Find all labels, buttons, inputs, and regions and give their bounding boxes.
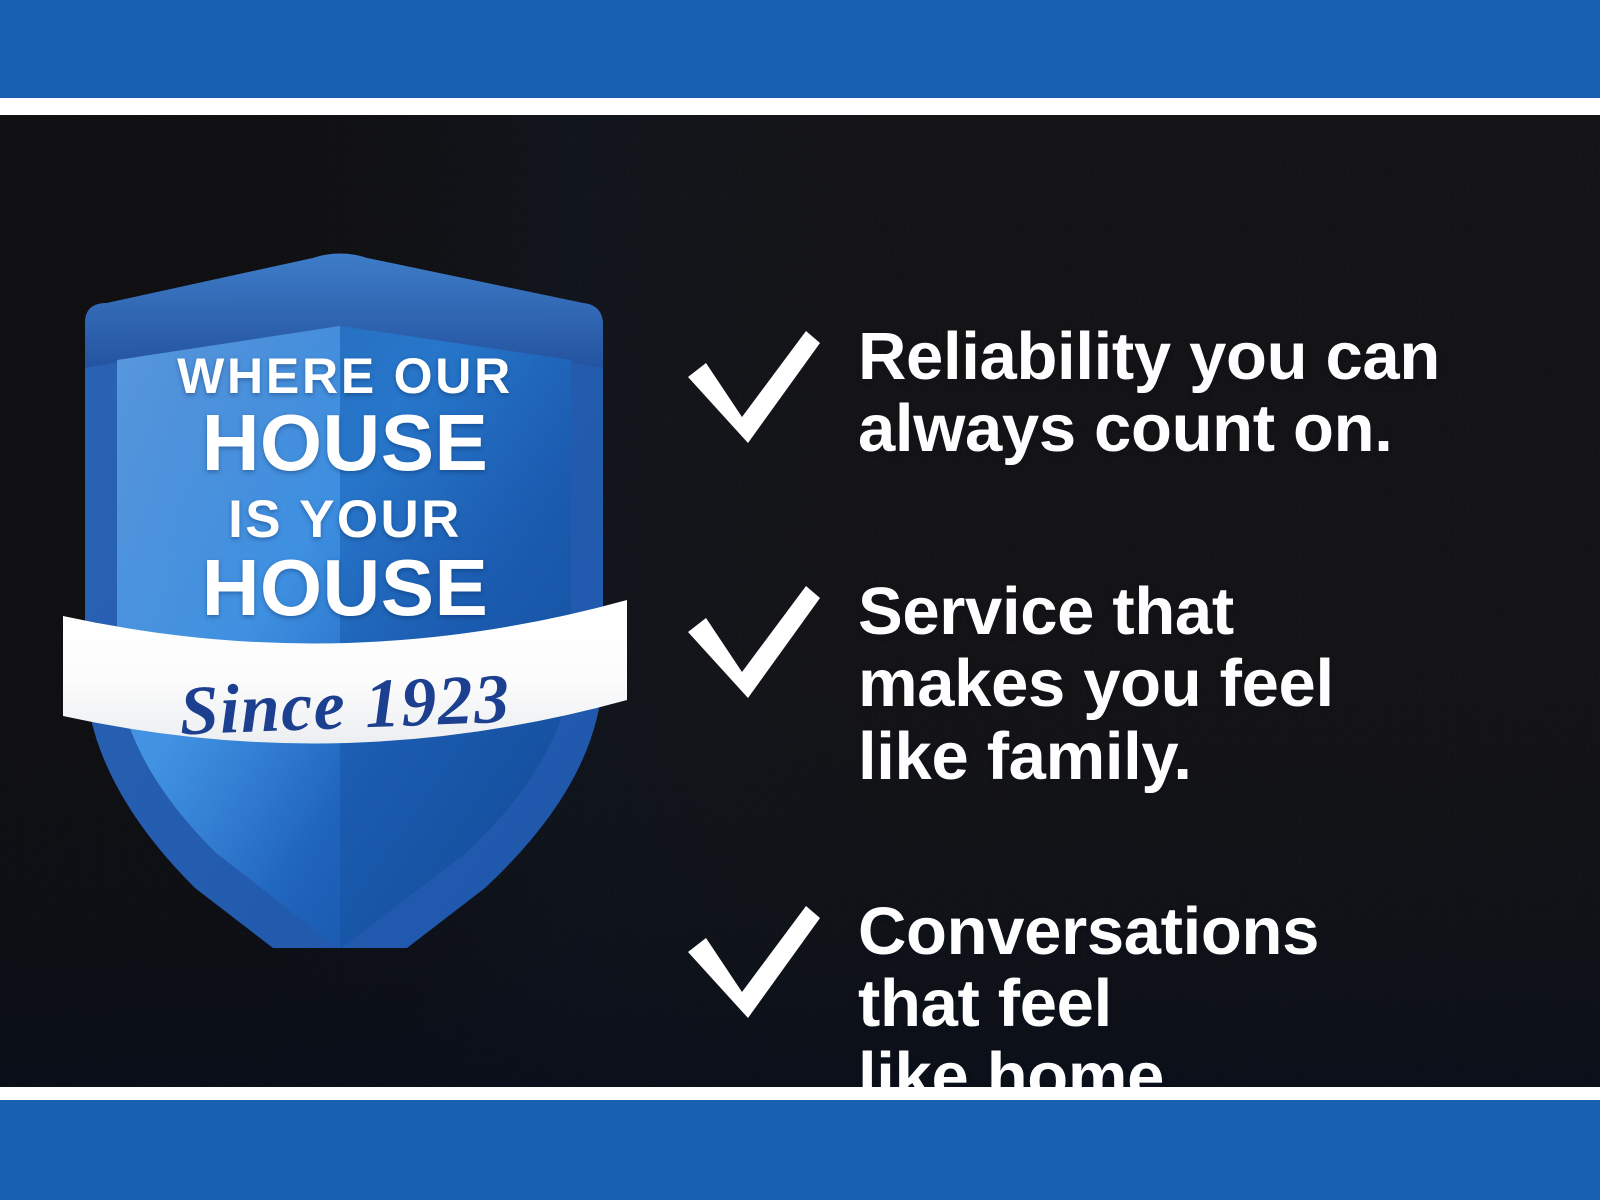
benefit-text-1: Reliability you can always count on. — [858, 321, 1558, 466]
benefits-list: Reliability you can always count on. Ser… — [660, 230, 1560, 1087]
benefit-2-line-1: Service that — [858, 576, 1558, 648]
checkmark-icon — [680, 325, 820, 450]
badge-line-3: IS YOUR — [55, 493, 635, 546]
promotional-banner: WHERE OUR HOUSE IS YOUR HOUSE Since 1923… — [0, 0, 1600, 1200]
benefit-text-2: Service that makes you feel like family. — [858, 576, 1558, 793]
main-stage: WHERE OUR HOUSE IS YOUR HOUSE Since 1923… — [0, 115, 1600, 1087]
benefit-2-line-3: like family. — [858, 721, 1558, 793]
top-white-separator — [0, 98, 1600, 115]
benefit-3-line-3: like home. — [858, 1041, 1558, 1087]
benefit-2-line-2: makes you feel — [858, 648, 1558, 720]
checkmark-icon — [680, 900, 820, 1025]
benefit-text-3: Conversations that feel like home. — [858, 896, 1558, 1087]
shield-badge: WHERE OUR HOUSE IS YOUR HOUSE Since 1923 — [55, 248, 635, 948]
benefit-3-line-2: that feel — [858, 968, 1558, 1040]
benefit-1-line-2: always count on. — [858, 393, 1558, 465]
badge-line-2: HOUSE — [55, 403, 635, 483]
bottom-blue-band — [0, 1100, 1600, 1200]
bottom-white-separator — [0, 1087, 1600, 1100]
top-blue-band — [0, 0, 1600, 98]
badge-line-1: WHERE OUR — [55, 351, 635, 401]
checkmark-icon — [680, 580, 820, 705]
benefit-3-line-1: Conversations — [858, 896, 1558, 968]
badge-line-4: HOUSE — [55, 548, 635, 628]
benefit-1-line-1: Reliability you can — [858, 321, 1558, 393]
